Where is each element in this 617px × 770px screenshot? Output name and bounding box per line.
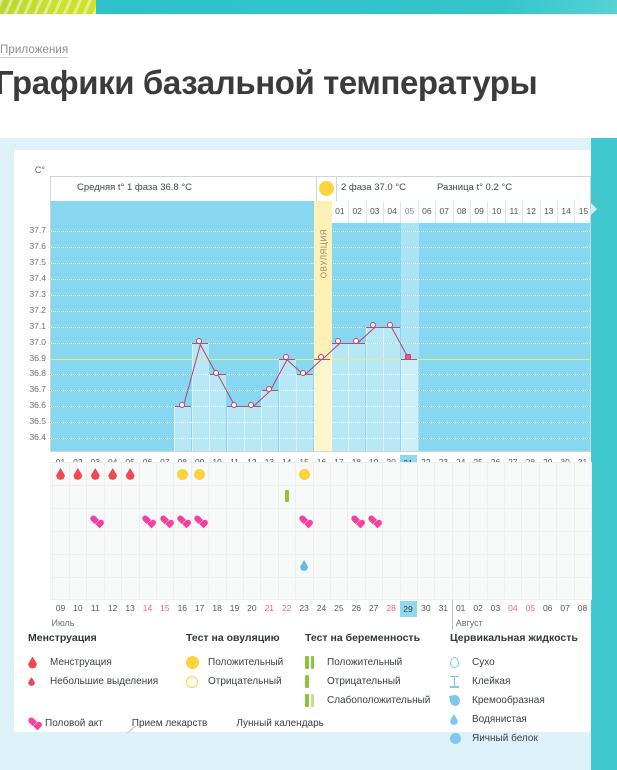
calendar-date-label[interactable]: 15 bbox=[156, 603, 174, 613]
legend-column-title: Цервикальная жидкость bbox=[450, 632, 578, 644]
phase2-day-number: 14 bbox=[557, 206, 575, 216]
legend-item-label: Клейкая bbox=[472, 676, 510, 687]
legend-item-label: Небольшие выделения bbox=[50, 676, 158, 687]
calendar-date-label[interactable]: 23 bbox=[295, 603, 313, 613]
right-teal-strip bbox=[591, 138, 617, 770]
temperature-data-point[interactable] bbox=[231, 402, 237, 408]
phase1-average-label: Средняя t° 1 фаза 36.8 °C bbox=[77, 182, 192, 193]
legend-item: Слабоположительный bbox=[305, 691, 430, 710]
menstruation-marker[interactable] bbox=[69, 467, 87, 485]
phase2-day-number: 01 bbox=[331, 206, 349, 216]
legend-item: Положительный bbox=[186, 653, 283, 672]
phase2-day-number: 11 bbox=[505, 206, 523, 216]
page-header: Приложения Графики базальной температуры bbox=[0, 14, 617, 138]
intercourse-marker[interactable] bbox=[191, 512, 209, 530]
blood-drop-icon bbox=[56, 468, 65, 480]
phase2-day-counter: 010203040506070809101112131415 bbox=[331, 201, 590, 223]
calendar-date-label[interactable]: 06 bbox=[539, 603, 557, 613]
legend-item: Половой акт bbox=[28, 714, 103, 732]
bar-and-pale-bar-green-icon bbox=[305, 694, 327, 707]
heart-pink-icon bbox=[143, 516, 153, 525]
phase2-day-number: 04 bbox=[383, 206, 401, 216]
calendar-date-label[interactable]: 12 bbox=[104, 603, 122, 613]
menstruation-marker[interactable] bbox=[104, 467, 122, 485]
marker-grid-hline bbox=[50, 462, 591, 463]
watery-drop-icon bbox=[450, 714, 472, 725]
legend-column-col3: Тест на беременностьПоложительныйОтрицат… bbox=[305, 632, 430, 710]
intercourse-marker[interactable] bbox=[173, 512, 191, 530]
intercourse-marker[interactable] bbox=[86, 512, 104, 530]
legend-item-label: Половой акт bbox=[45, 718, 103, 729]
temperature-bar bbox=[314, 359, 331, 451]
temperature-bar bbox=[227, 406, 244, 451]
marker-grid-hline bbox=[50, 485, 591, 486]
calendar-date-label[interactable]: 20 bbox=[243, 603, 261, 613]
blood-drop-icon bbox=[91, 468, 100, 480]
calendar-date-label[interactable]: 04 bbox=[504, 603, 522, 613]
y-tick-label: 36.9 bbox=[29, 353, 46, 363]
legend-item-label: Водянистая bbox=[472, 714, 527, 725]
marker-grid-hline bbox=[50, 508, 591, 509]
legend-item-label: Менструация bbox=[50, 657, 112, 668]
legend-item: Водянистая bbox=[450, 710, 578, 729]
phase2-day-number: 03 bbox=[366, 206, 384, 216]
legend-column-col1: МенструацияМенструацияНебольшие выделени… bbox=[28, 632, 158, 691]
one-bar-green-icon bbox=[305, 675, 327, 688]
heart-pink-icon bbox=[299, 516, 309, 525]
legend-item-label: Отрицательный bbox=[208, 676, 282, 687]
legend-item: Сухо bbox=[450, 653, 578, 672]
calendar-date-label[interactable]: 24 bbox=[313, 603, 331, 613]
phase2-cell-divider bbox=[435, 201, 436, 223]
calendar-date-label: 29 bbox=[400, 601, 417, 617]
two-bars-green-icon bbox=[305, 656, 327, 669]
calendar-date-label[interactable]: 05 bbox=[521, 603, 539, 613]
phase2-cell-divider bbox=[557, 201, 558, 223]
phase2-average-label: 2 фаза 37.0 °C bbox=[341, 182, 406, 193]
legend-item-label: Яичный белок bbox=[472, 733, 538, 744]
calendar-date-label[interactable]: 22 bbox=[278, 603, 296, 613]
legend-item: Яичный белок bbox=[450, 729, 578, 748]
phase2-day-number: 12 bbox=[522, 206, 540, 216]
legend-item: Отрицательный bbox=[186, 672, 283, 691]
blood-drop-icon bbox=[108, 468, 117, 480]
ovulation-test-marker[interactable] bbox=[191, 467, 209, 485]
calendar-date-label[interactable]: 07 bbox=[556, 603, 574, 613]
y-tick-label: 37.5 bbox=[29, 257, 46, 267]
bbt-chart: C° 37.737.637.537.437.337.237.137.036.93… bbox=[14, 162, 591, 472]
ovulation-test-marker[interactable] bbox=[295, 467, 313, 485]
heart-pink-icon bbox=[195, 516, 205, 525]
temperature-data-point[interactable] bbox=[179, 402, 185, 408]
y-tick-label: 36.4 bbox=[29, 432, 46, 442]
phase2-cell-divider bbox=[505, 201, 506, 223]
month-label-right: Август bbox=[456, 618, 483, 628]
breadcrumb[interactable]: Приложения bbox=[0, 44, 68, 58]
menstruation-marker[interactable] bbox=[52, 467, 70, 485]
phase2-cell-divider bbox=[574, 201, 575, 223]
legend-item-label: Кремообразная bbox=[472, 695, 545, 706]
legend-column-title: Тест на беременность bbox=[305, 632, 430, 644]
calendar-date-label[interactable]: 16 bbox=[173, 603, 191, 613]
y-tick-label: 37.0 bbox=[29, 337, 46, 347]
phase2-cell-divider bbox=[366, 201, 367, 223]
phase-summary-header: Средняя t° 1 фаза 36.8 °C 2 фаза 37.0 °C… bbox=[51, 177, 590, 201]
calendar-date-label[interactable]: 18 bbox=[208, 603, 226, 613]
phase2-cell-divider bbox=[470, 201, 471, 223]
green-stripes-banner bbox=[0, 0, 96, 14]
y-tick-label: 37.7 bbox=[29, 225, 46, 235]
calendar-date-label[interactable]: 21 bbox=[260, 603, 278, 613]
phase2-cell-divider bbox=[348, 201, 349, 223]
calendar-date-label[interactable]: 19 bbox=[226, 603, 244, 613]
temperature-bar bbox=[174, 406, 191, 451]
y-tick-label: 37.6 bbox=[29, 241, 46, 251]
heart-pink-icon bbox=[160, 516, 170, 525]
circle-filled-yellow-icon bbox=[186, 656, 208, 669]
calendar-date-axis[interactable]: 0910111213141516171819202122232425262728… bbox=[50, 602, 591, 618]
teal-banner bbox=[96, 0, 617, 14]
temperature-bar bbox=[244, 406, 261, 451]
ovulation-test-positive-icon bbox=[177, 469, 188, 480]
plot-frame: Средняя t° 1 фаза 36.8 °C 2 фаза 37.0 °C… bbox=[50, 176, 591, 452]
legend-item: Менструация bbox=[28, 653, 158, 672]
intercourse-marker[interactable] bbox=[365, 512, 383, 530]
legend-item: Положительный bbox=[305, 653, 430, 672]
legend-column-col4: Цервикальная жидкостьСухоКлейкаяКремообр… bbox=[450, 632, 578, 748]
intercourse-marker[interactable] bbox=[139, 512, 157, 530]
menstruation-marker[interactable] bbox=[86, 467, 104, 485]
phase2-day-number: 13 bbox=[540, 206, 558, 216]
calendar-date-label[interactable]: 28 bbox=[382, 603, 400, 613]
ovulation-marker-icon bbox=[319, 181, 334, 196]
phase2-cell-divider bbox=[540, 201, 541, 223]
intercourse-marker[interactable] bbox=[347, 512, 365, 530]
heart-pink-icon bbox=[177, 516, 187, 525]
pregnancy-test-icon bbox=[285, 490, 289, 502]
y-axis-unit: C° bbox=[35, 165, 45, 175]
legend-item-label: Слабоположительный bbox=[327, 695, 430, 706]
phase2-day-number: 07 bbox=[435, 206, 453, 216]
legend-item-label: Сухо bbox=[472, 657, 495, 668]
calendar-date-label[interactable]: 27 bbox=[365, 603, 383, 613]
blood-drop-icon bbox=[73, 468, 82, 480]
heart-pink-icon bbox=[90, 516, 100, 525]
phase2-cell-divider bbox=[522, 201, 523, 223]
legend-column-title: Менструация bbox=[28, 632, 158, 644]
menstruation-marker[interactable] bbox=[121, 467, 139, 485]
calendar-date-label[interactable]: 01 bbox=[452, 603, 470, 613]
y-tick-label: 37.1 bbox=[29, 321, 46, 331]
legend-item: Небольшие выделения bbox=[28, 672, 158, 691]
circle-outline-yellow-icon bbox=[186, 676, 208, 688]
blood-drop-icon bbox=[126, 468, 135, 480]
blood-drop-small-icon bbox=[28, 677, 50, 686]
marker-grid-hline bbox=[50, 577, 591, 578]
y-axis: C° 37.737.637.537.437.337.237.137.036.93… bbox=[14, 162, 50, 472]
temperature-data-point[interactable] bbox=[266, 386, 272, 392]
blood-drop-icon bbox=[28, 657, 50, 669]
temperature-data-point[interactable] bbox=[318, 354, 324, 360]
phase-divider-right bbox=[336, 177, 337, 201]
legend-item: Кремообразная bbox=[450, 691, 578, 710]
cervical-fluid-marker[interactable] bbox=[295, 558, 313, 576]
calendar-date-label[interactable]: 08 bbox=[574, 603, 592, 613]
sticky-icon bbox=[450, 676, 472, 688]
marker-grid[interactable] bbox=[50, 462, 591, 600]
legend-column-title: Тест на овуляцию bbox=[186, 632, 283, 644]
phase2-cell-divider bbox=[487, 201, 488, 223]
page-title: Графики базальной температуры bbox=[0, 64, 537, 102]
legend-item-label: Отрицательный bbox=[327, 676, 401, 687]
calendar-date-label[interactable]: 26 bbox=[347, 603, 365, 613]
legend-item-label: Прием лекарств bbox=[132, 718, 208, 729]
heart-pink-icon bbox=[351, 516, 361, 525]
egg-white-circle-icon bbox=[450, 733, 472, 744]
y-tick-label: 37.4 bbox=[29, 273, 46, 283]
phase2-day-number: 10 bbox=[487, 206, 505, 216]
temperature-bar bbox=[279, 359, 296, 451]
marker-grid-hline bbox=[50, 599, 591, 600]
intercourse-marker[interactable] bbox=[295, 512, 313, 530]
heart-pink-icon bbox=[369, 516, 379, 525]
phase2-day-number: 09 bbox=[470, 206, 488, 216]
legend-column-col2: Тест на овуляциюПоложительныйОтрицательн… bbox=[186, 632, 283, 691]
ovulation-band-label: ОВУЛЯЦИЯ bbox=[319, 214, 328, 294]
temperature-bar bbox=[261, 390, 278, 451]
y-tick-label: 37.2 bbox=[29, 305, 46, 315]
calendar-date-label[interactable]: 30 bbox=[417, 603, 435, 613]
phase2-day-number: 15 bbox=[574, 206, 590, 216]
legend-item-label: Положительный bbox=[327, 657, 402, 668]
month-divider bbox=[452, 600, 453, 630]
calendar-date-label[interactable]: 13 bbox=[121, 603, 139, 613]
legend-item: Клейкая bbox=[450, 672, 578, 691]
phase-divider-left bbox=[316, 177, 317, 201]
ovulation-test-positive-icon bbox=[194, 469, 205, 480]
ovulation-test-positive-icon bbox=[299, 469, 310, 480]
calendar-date-label[interactable]: 10 bbox=[69, 603, 87, 613]
decorative-top-bar bbox=[0, 0, 617, 14]
marker-grid-hline bbox=[50, 554, 591, 555]
legend-bottom-row: Половой актПрием лекарствЛунный календар… bbox=[28, 714, 324, 732]
y-tick-label: 36.5 bbox=[29, 416, 46, 426]
phase2-day-number: 02 bbox=[348, 206, 366, 216]
highlighted-day-column bbox=[401, 201, 419, 451]
y-tick-label: 36.7 bbox=[29, 384, 46, 394]
plot-area[interactable]: 010203040506070809101112131415 ОВУЛЯЦИЯ bbox=[51, 201, 590, 451]
temperature-bar bbox=[383, 327, 400, 451]
calendar-date-label[interactable]: 03 bbox=[487, 603, 505, 613]
y-tick-label: 37.3 bbox=[29, 289, 46, 299]
ovulation-test-marker[interactable] bbox=[173, 467, 191, 485]
calendar-date-label[interactable]: 31 bbox=[434, 603, 452, 613]
watery-drop-icon bbox=[300, 560, 308, 571]
calendar-date-label[interactable]: 17 bbox=[191, 603, 209, 613]
phase-difference-label: Разница t° 0.2 °C bbox=[437, 182, 512, 193]
legend-item: Лунный календарь bbox=[229, 718, 324, 729]
phase2-cell-divider bbox=[453, 201, 454, 223]
temperature-bar bbox=[366, 327, 383, 451]
chart-card: C° 37.737.637.537.437.337.237.137.036.93… bbox=[14, 150, 591, 732]
legend-item-label: Лунный календарь bbox=[236, 718, 324, 729]
calendar-date-label[interactable]: 11 bbox=[86, 603, 104, 613]
intercourse-marker[interactable] bbox=[156, 512, 174, 530]
calendar-date-label[interactable]: 09 bbox=[52, 603, 70, 613]
y-tick-label: 36.6 bbox=[29, 400, 46, 410]
legend-item: Прием лекарств bbox=[125, 718, 208, 729]
month-label-left: Июль bbox=[52, 618, 75, 628]
calendar-date-label[interactable]: 25 bbox=[330, 603, 348, 613]
phase2-day-number: 06 bbox=[418, 206, 436, 216]
temperature-data-point[interactable] bbox=[353, 338, 359, 344]
y-tick-label: 36.8 bbox=[29, 368, 46, 378]
legend-item: Отрицательный bbox=[305, 672, 430, 691]
creamy-drop-icon bbox=[450, 695, 472, 706]
phase2-cell-divider bbox=[383, 201, 384, 223]
phase2-day-number: 08 bbox=[453, 206, 471, 216]
legend-item-label: Положительный bbox=[208, 657, 283, 668]
temperature-bar bbox=[296, 374, 313, 451]
temperature-data-point[interactable] bbox=[405, 354, 411, 360]
calendar-date-label[interactable]: 14 bbox=[139, 603, 157, 613]
pregnancy-test-marker[interactable] bbox=[278, 489, 296, 507]
drop-outline-icon bbox=[450, 657, 472, 668]
marker-grid-hline bbox=[50, 531, 591, 532]
heart-pink-icon bbox=[28, 714, 38, 732]
calendar-date-label[interactable]: 02 bbox=[469, 603, 487, 613]
calendar-date-highlight[interactable]: 29 bbox=[400, 601, 417, 617]
marker-grid-vline bbox=[591, 462, 592, 600]
